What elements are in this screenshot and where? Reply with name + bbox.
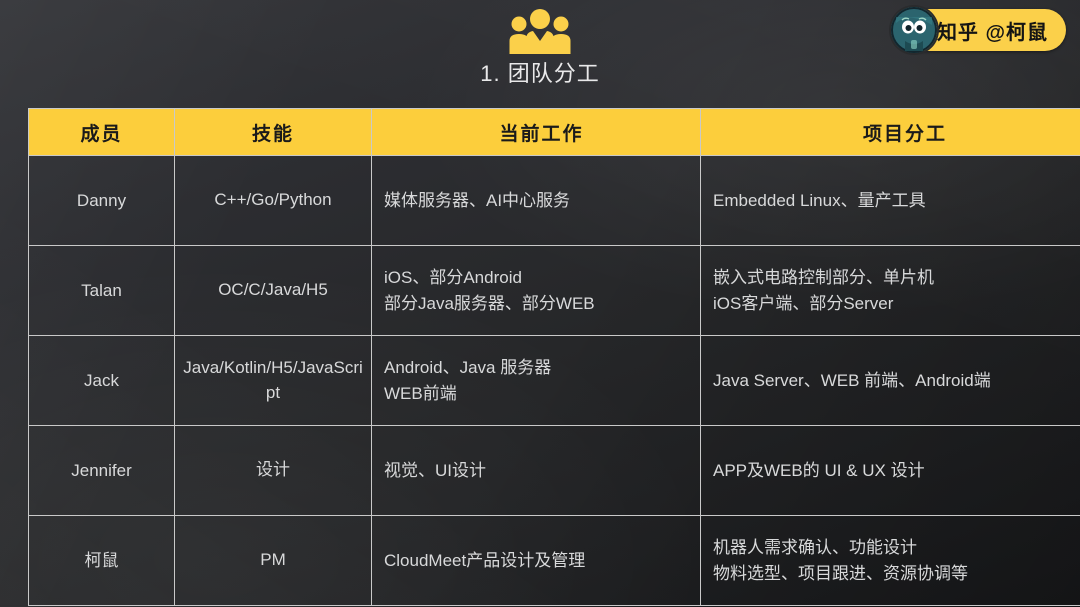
- cell-assignment-line: 嵌入式电路控制部分、单片机: [713, 265, 1080, 291]
- cell-work: 媒体服务器、AI中心服务: [372, 156, 701, 246]
- cell-work: iOS、部分Android部分Java服务器、部分WEB: [372, 246, 701, 336]
- cell-assignment: Java Server、WEB 前端、Android端: [701, 336, 1080, 426]
- cell-skill-line: C++/Go/Python: [214, 190, 331, 209]
- cell-member-name: Jack: [29, 336, 175, 426]
- watermark-badge: 知乎 @柯鼠: [893, 9, 1066, 51]
- column-header-assignment: 项目分工: [701, 109, 1080, 156]
- table-row: Jennifer设计视觉、UI设计APP及WEB的 UI & UX 设计: [29, 426, 1080, 516]
- cell-skill-line: OC/C/Java/H5: [218, 280, 328, 299]
- cell-assignment-line: APP及WEB的 UI & UX 设计: [713, 458, 1080, 484]
- cell-assignment: APP及WEB的 UI & UX 设计: [701, 426, 1080, 516]
- cell-work: 视觉、UI设计: [372, 426, 701, 516]
- table-header: 成员 技能 当前工作 项目分工: [29, 109, 1080, 156]
- table-row: 柯鼠PMCloudMeet产品设计及管理机器人需求确认、功能设计物料选型、项目跟…: [29, 516, 1080, 606]
- cell-member-name: Talan: [29, 246, 175, 336]
- cell-member-name: Danny: [29, 156, 175, 246]
- cell-assignment-line: 物料选型、项目跟进、资源协调等: [713, 561, 1080, 587]
- table-body: DannyC++/Go/Python媒体服务器、AI中心服务Embedded L…: [29, 156, 1080, 606]
- cell-work-line: CloudMeet产品设计及管理: [384, 548, 699, 574]
- people-group-icon: [508, 8, 572, 54]
- slide-canvas: 1. 团队分工 知乎 @柯鼠 成员 技能 当前: [0, 0, 1080, 607]
- table-row: TalanOC/C/Java/H5iOS、部分Android部分Java服务器、…: [29, 246, 1080, 336]
- cell-member-name: Jennifer: [29, 426, 175, 516]
- cell-skill: C++/Go/Python: [175, 156, 372, 246]
- cell-work-line: WEB前端: [384, 381, 699, 407]
- page-title: 1. 团队分工: [0, 56, 1080, 88]
- cell-skill: OC/C/Java/H5: [175, 246, 372, 336]
- cell-skill-line: Java/Kotlin/H5/JavaScript: [183, 358, 363, 402]
- cell-work-line: iOS、部分Android: [384, 265, 699, 291]
- cell-skill: Java/Kotlin/H5/JavaScript: [175, 336, 372, 426]
- table-row: DannyC++/Go/Python媒体服务器、AI中心服务Embedded L…: [29, 156, 1080, 246]
- cell-assignment-line: 机器人需求确认、功能设计: [713, 535, 1080, 561]
- cell-assignment-line: Java Server、WEB 前端、Android端: [713, 368, 1080, 394]
- cell-work: CloudMeet产品设计及管理: [372, 516, 701, 606]
- cell-work-line: 部分Java服务器、部分WEB: [384, 291, 699, 317]
- cell-assignment: 嵌入式电路控制部分、单片机iOS客户端、部分Server: [701, 246, 1080, 336]
- cell-assignment-line: Embedded Linux、量产工具: [713, 188, 1080, 214]
- cell-work-line: Android、Java 服务器: [384, 355, 699, 381]
- watermark-label: 知乎 @柯鼠: [937, 16, 1048, 45]
- cell-work: Android、Java 服务器WEB前端: [372, 336, 701, 426]
- cell-skill: 设计: [175, 426, 372, 516]
- cell-assignment-line: iOS客户端、部分Server: [713, 291, 1080, 317]
- round-creature-avatar-icon: [891, 7, 937, 53]
- cell-member-name: 柯鼠: [29, 516, 175, 606]
- team-assignment-table: 成员 技能 当前工作 项目分工 DannyC++/Go/Python媒体服务器、…: [28, 108, 1080, 606]
- cell-skill-line: 设计: [256, 460, 290, 479]
- cell-work-line: 视觉、UI设计: [384, 458, 699, 484]
- column-header-member: 成员: [29, 109, 175, 156]
- column-header-current-work: 当前工作: [372, 109, 701, 156]
- cell-assignment: Embedded Linux、量产工具: [701, 156, 1080, 246]
- column-header-skill: 技能: [175, 109, 372, 156]
- table-row: JackJava/Kotlin/H5/JavaScriptAndroid、Jav…: [29, 336, 1080, 426]
- cell-skill: PM: [175, 516, 372, 606]
- cell-skill-line: PM: [260, 550, 286, 569]
- table-header-row: 成员 技能 当前工作 项目分工: [29, 109, 1080, 156]
- cell-work-line: 媒体服务器、AI中心服务: [384, 188, 699, 214]
- cell-assignment: 机器人需求确认、功能设计物料选型、项目跟进、资源协调等: [701, 516, 1080, 606]
